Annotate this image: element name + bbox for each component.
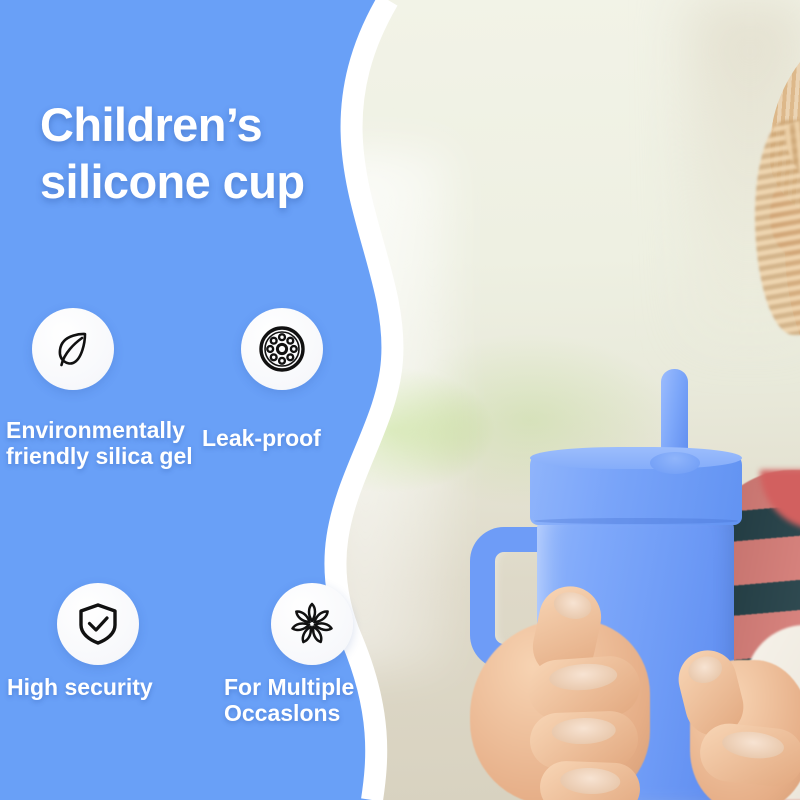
feature-icon-badge <box>32 308 114 390</box>
feature-item-multiple-occasions: For MultipleOccaslons <box>271 583 353 665</box>
seal-gasket-icon <box>257 324 307 374</box>
feature-list: Environmentallyfriendly silica gel <box>0 0 420 800</box>
feature-label: Leak-proof <box>202 426 412 452</box>
flower-petals-icon <box>288 600 336 648</box>
feature-item-leak-proof: Leak-proof <box>241 308 323 390</box>
feature-item-environmentally-friendly: Environmentallyfriendly silica gel <box>32 308 114 390</box>
feature-item-high-security: High security <box>57 583 139 665</box>
leaf-icon <box>49 325 97 373</box>
shield-check-icon <box>75 601 121 647</box>
feature-label-line-1: Environmentally <box>6 417 185 443</box>
feature-icon-badge <box>271 583 353 665</box>
feature-label-line-2: friendly silica gel <box>6 443 193 469</box>
feature-label-line-1: For Multiple <box>224 674 354 700</box>
left-content-panel: Children’ssilicone cup Environmentallyfr… <box>0 0 420 800</box>
feature-label: For MultipleOccaslons <box>224 675 424 727</box>
feature-label: High security <box>7 675 227 701</box>
feature-label-line-2: Occaslons <box>224 700 340 726</box>
product-banner: Children’ssilicone cup Environmentallyfr… <box>0 0 800 800</box>
feature-icon-badge <box>57 583 139 665</box>
feature-icon-badge <box>241 308 323 390</box>
